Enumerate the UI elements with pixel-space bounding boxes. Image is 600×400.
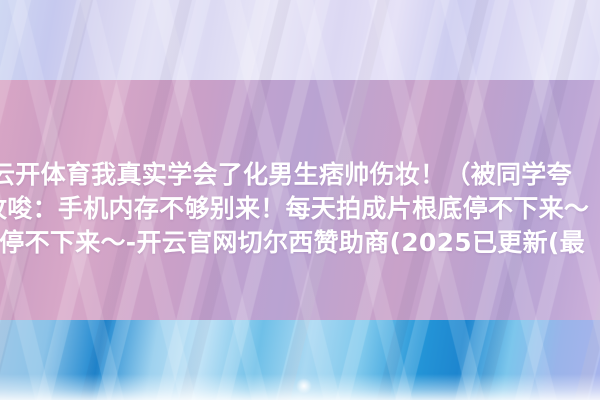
headline-text-block: 云开体育我真实学会了化男生痞帅伤妆！（被同学夸 攻唆：手机内存不够别来！每天拍成…	[0, 158, 600, 260]
headline-line-1: 云开体育我真实学会了化男生痞帅伤妆！（被同学夸	[0, 158, 600, 192]
promo-banner: 云开体育我真实学会了化男生痞帅伤妆！（被同学夸 攻唆：手机内存不够别来！每天拍成…	[0, 0, 600, 400]
background-band-lavender	[0, 0, 600, 80]
background-band-blue	[0, 320, 600, 400]
headline-line-3: 底停不下来～-开云官网切尔西赞助商(2025已更新(最	[0, 226, 600, 260]
headline-line-2: 攻唆：手机内存不够别来！每天拍成片根底停不下来～	[0, 192, 600, 226]
